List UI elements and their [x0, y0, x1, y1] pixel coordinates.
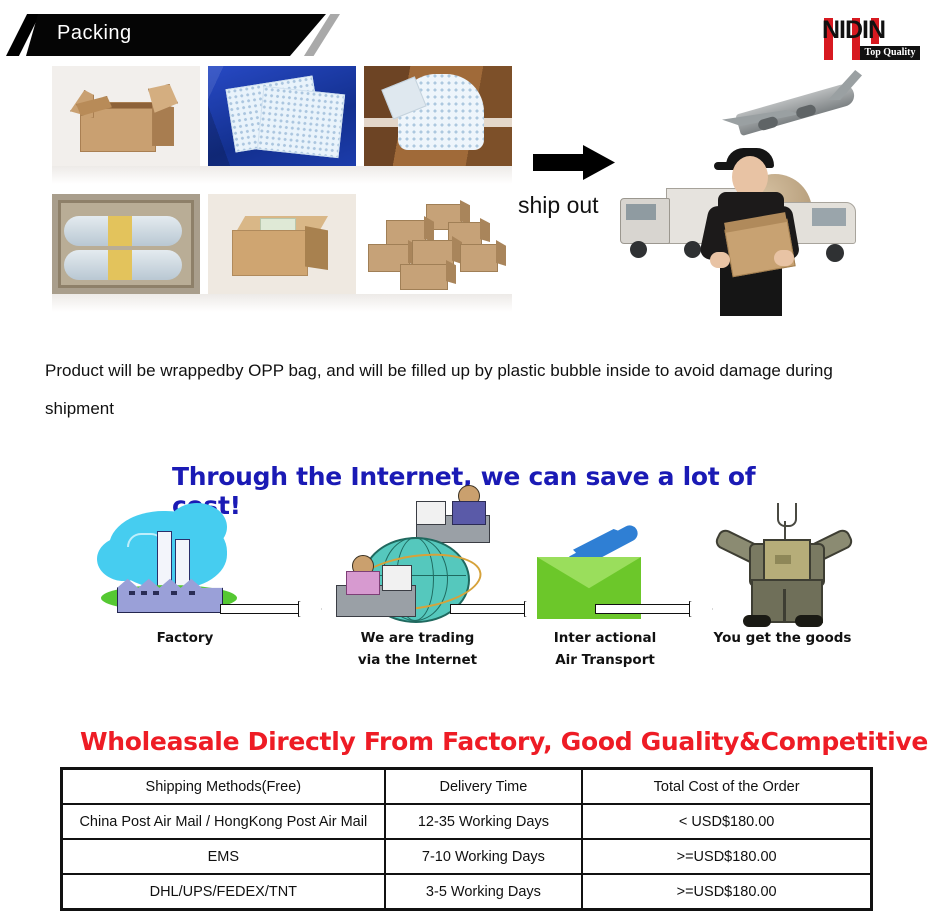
customer-shoe-right [795, 615, 823, 627]
table-header-shipping-methods: Shipping Methods(Free) [62, 769, 385, 804]
cell-time-1: 7-10 Working Days [385, 839, 583, 874]
ship-out-arrow-icon [533, 145, 615, 179]
flow-label-trading-line1: We are trading [320, 627, 515, 649]
photo-row-reflection-bottom [52, 294, 512, 312]
packing-description: Product will be wrappedby OPP bag, and w… [45, 352, 885, 428]
cell-method-1: EMS [62, 839, 385, 874]
courier-parcel [724, 219, 795, 277]
flow-step-internet-trading: We are trading via the Internet [320, 503, 515, 671]
van-wheel-2 [826, 244, 844, 262]
factory-window-5 [189, 591, 195, 595]
flow-arrow-3-icon [595, 601, 711, 615]
photo-bubble-wrap-sheets [208, 66, 356, 166]
logo-wordmark: NIDIN [822, 16, 922, 44]
courier-hand-right [774, 250, 794, 266]
trader-computer-bottom [382, 565, 412, 591]
cell-time-0: 12-35 Working Days [385, 804, 583, 839]
box-front [232, 230, 308, 276]
pile-box-6 [460, 244, 498, 272]
page-title: Packing [57, 22, 132, 45]
sealed-box-illustration [232, 216, 332, 274]
wholesale-headline: Wholeasale Directly From Factory, Good G… [80, 727, 870, 756]
trader-bottom-body [346, 571, 380, 595]
photo-stack-of-boxes [364, 194, 512, 294]
shipping-methods-table: Shipping Methods(Free) Delivery Time Tot… [60, 767, 873, 911]
courier-hand-left [710, 252, 730, 268]
factory-window-1 [129, 591, 135, 595]
trader-computer-top [416, 501, 446, 525]
cell-cost-1: >=USD$180.00 [582, 839, 871, 874]
customer-shoe-left [743, 615, 771, 627]
courier-delivery-scene [620, 66, 870, 316]
trader-top-body [452, 501, 486, 525]
pile-box-7 [400, 264, 448, 290]
customer-parcel [763, 539, 811, 581]
flow-arrow-1-icon [220, 601, 320, 615]
courier-person [698, 126, 808, 316]
flow-label-factory-line1: Factory [95, 627, 275, 649]
bubble-sheet-2 [257, 86, 345, 158]
table-row: DHL/UPS/FEDEX/TNT 3-5 Working Days >=USD… [62, 874, 871, 909]
customer-leg-split [783, 589, 786, 621]
brand-logo: NIDIN Top Quality [822, 16, 922, 60]
arrow-head [583, 145, 615, 180]
flow-label-trading-line2: via the Internet [320, 649, 515, 671]
flow-arrow-3-shaft [595, 604, 692, 614]
flow-label-receive-line1: You get the goods [695, 627, 870, 649]
flow-arrow-1-shaft [220, 604, 301, 614]
cell-cost-0: < USD$180.00 [582, 804, 871, 839]
cell-method-2: DHL/UPS/FEDEX/TNT [62, 874, 385, 909]
flow-label-air-line1: Inter actional [515, 627, 695, 649]
factory-window-4 [171, 591, 177, 595]
packing-photo-grid [52, 66, 532, 316]
trading-flow-diagram: Factory [95, 505, 855, 705]
cell-method-0: China Post Air Mail / HongKong Post Air … [62, 804, 385, 839]
truck-window [626, 204, 656, 220]
arrow-shaft [533, 154, 589, 171]
photo-row-reflection-top [52, 166, 512, 184]
photo-sealed-carton [208, 194, 356, 294]
ship-out-label: ship out [518, 192, 599, 219]
section-header-banner: Packing [0, 14, 340, 56]
table-row: China Post Air Mail / HongKong Post Air … [62, 804, 871, 839]
table-header-row: Shipping Methods(Free) Delivery Time Tot… [62, 769, 871, 804]
flow-arrow-1-head [298, 601, 322, 617]
photo-bubble-roll-in-box [364, 66, 512, 166]
box-side [305, 226, 328, 270]
table-header-delivery-time: Delivery Time [385, 769, 583, 804]
factory-window-2 [141, 591, 147, 595]
table-row: EMS 7-10 Working Days >=USD$180.00 [62, 839, 871, 874]
logo-tagline: Top Quality [860, 46, 920, 60]
carton-illustration [70, 82, 178, 154]
flow-label-air-line2: Air Transport [515, 649, 695, 671]
trader-person-top [452, 485, 484, 519]
van-window [812, 208, 846, 226]
customer-with-parcel-icon [695, 503, 870, 627]
packing-page: Packing NIDIN Top Quality [0, 0, 930, 920]
factory-window-3 [153, 591, 159, 595]
customer-hook [777, 503, 797, 527]
table-header-total-cost: Total Cost of the Order [582, 769, 871, 804]
cell-cost-2: >=USD$180.00 [582, 874, 871, 909]
yellow-tape-1 [108, 216, 132, 246]
flow-step-factory: Factory [95, 505, 275, 649]
photo-open-carton-box [52, 66, 200, 166]
truck-wheel-1 [630, 241, 647, 258]
trader-person-bottom [346, 555, 378, 589]
flow-step-air-transport: Inter actional Air Transport [515, 505, 695, 671]
yellow-tape-2 [108, 250, 132, 280]
cell-time-2: 3-5 Working Days [385, 874, 583, 909]
flow-step-customer-receives: You get the goods [695, 503, 870, 649]
photo-wrapped-rolls-in-carton [52, 194, 200, 294]
